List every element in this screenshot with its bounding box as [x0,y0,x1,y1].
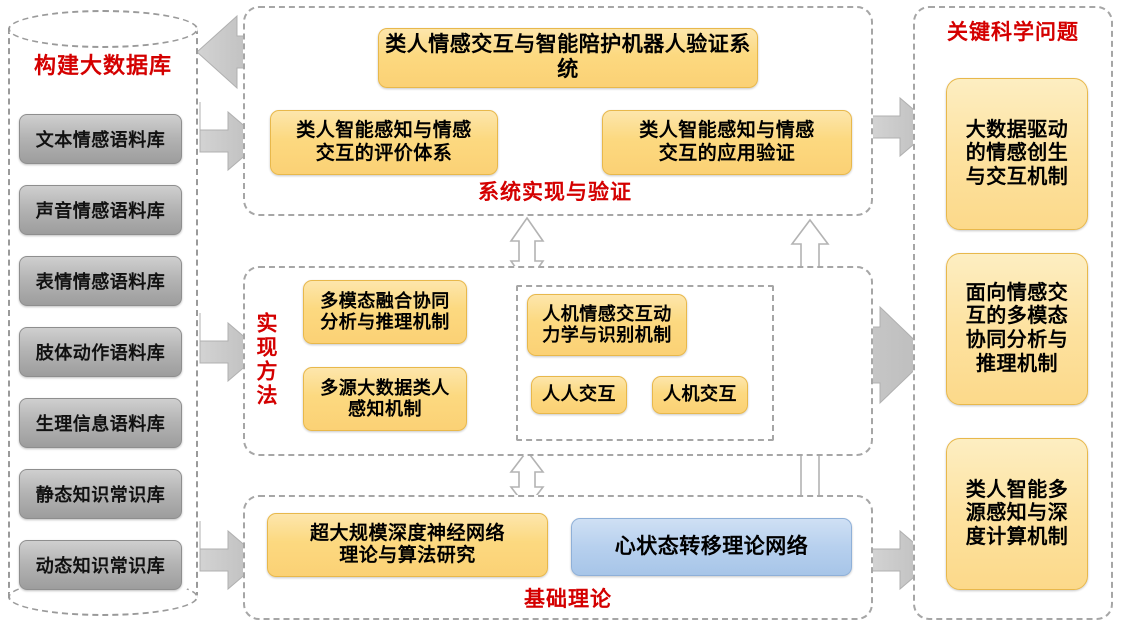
method-multimodal-box[interactable]: 多模态融合协同 分析与推理机制 [303,280,467,344]
theory-panel-title: 基础理论 [508,583,628,613]
database-title: 构建大数据库 [8,48,198,80]
method-dynamics-line1: 人机情感交互动 [542,304,672,325]
method-dynamics-box[interactable]: 人机情感交互动 力学与识别机制 [527,294,687,356]
question-0-line2: 的情感创生 [966,142,1069,166]
diagram-canvas: 构建大数据库 文本情感语料库 声音情感语料库 表情情感语料库 肢体动作语料库 生… [0,0,1121,627]
question-item-2[interactable]: 类人智能多 源感知与深 度计算机制 [946,438,1088,590]
method-human-human-box[interactable]: 人人交互 [531,376,627,414]
question-0-line3: 与交互机制 [966,166,1069,190]
database-item-6[interactable]: 动态知识常识库 [19,540,182,590]
theory-mind-state-box[interactable]: 心状态转移理论网络 [571,518,852,576]
method-multisource-line2: 感知机制 [348,399,422,420]
question-1-line4: 推理机制 [976,353,1058,377]
database-item-2[interactable]: 表情情感语料库 [19,256,182,306]
method-human-machine-box[interactable]: 人机交互 [652,376,748,414]
question-item-0[interactable]: 大数据驱动 的情感创生 与交互机制 [946,78,1088,230]
database-item-1[interactable]: 声音情感语料库 [19,185,182,235]
question-2-line1: 类人智能多 [966,479,1069,503]
question-2-line2: 源感知与深 [966,502,1069,526]
question-2-line3: 度计算机制 [966,526,1069,550]
system-application-line1: 类人智能感知与情感 [639,120,815,142]
system-application-line2: 交互的应用验证 [659,143,796,165]
theory-dnn-line1: 超大规模深度神经网络 [310,523,505,545]
question-item-1[interactable]: 面向情感交 互的多模态 协同分析与 推理机制 [946,253,1088,405]
system-evaluation-line2: 交互的评价体系 [316,143,453,165]
system-panel-title: 系统实现与验证 [465,176,645,206]
method-multimodal-line2: 分析与推理机制 [320,312,450,333]
database-item-4[interactable]: 生理信息语料库 [19,398,182,448]
system-verification-box[interactable]: 类人情感交互与智能陪护机器人验证系统 [378,28,758,88]
questions-panel-title: 关键科学问题 [913,16,1113,46]
system-application-box[interactable]: 类人智能感知与情感 交互的应用验证 [602,110,852,175]
database-cylinder-top [8,10,198,48]
method-dynamics-line2: 力学与识别机制 [542,325,672,346]
database-item-3[interactable]: 肢体动作语料库 [19,327,182,377]
question-0-line1: 大数据驱动 [966,119,1069,143]
method-multisource-line1: 多源大数据类人 [320,378,450,399]
theory-dnn-line2: 理论与算法研究 [339,545,476,567]
method-panel-title: 实现方法 [249,290,277,430]
database-item-5[interactable]: 静态知识常识库 [19,469,182,519]
database-item-0[interactable]: 文本情感语料库 [19,114,182,164]
theory-dnn-box[interactable]: 超大规模深度神经网络 理论与算法研究 [267,513,548,577]
system-evaluation-box[interactable]: 类人智能感知与情感 交互的评价体系 [270,110,498,175]
question-1-line2: 互的多模态 [966,305,1069,329]
method-multimodal-line1: 多模态融合协同 [320,291,450,312]
question-1-line1: 面向情感交 [966,282,1069,306]
method-multisource-box[interactable]: 多源大数据类人 感知机制 [303,367,467,431]
question-1-line3: 协同分析与 [966,329,1069,353]
system-evaluation-line1: 类人智能感知与情感 [296,120,472,142]
